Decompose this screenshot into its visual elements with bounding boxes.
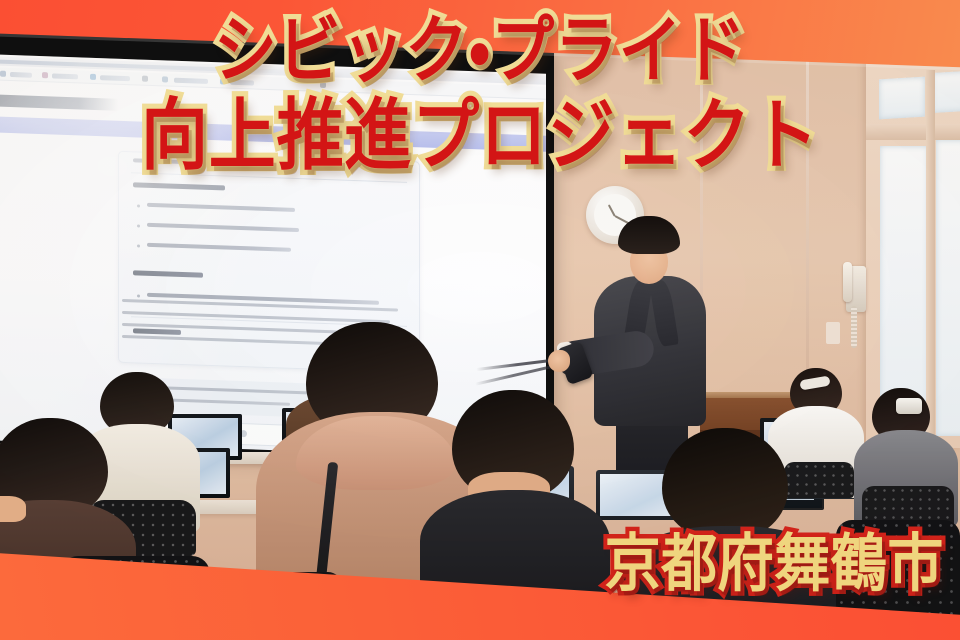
window-glass-panel — [936, 140, 960, 436]
wall-plate — [826, 322, 840, 344]
door-header — [866, 124, 960, 140]
telephone-handset — [843, 262, 852, 302]
list-bullet — [137, 294, 140, 297]
bookmark-item — [100, 75, 130, 81]
chair-back — [784, 462, 854, 498]
document-heading — [0, 94, 118, 111]
classroom-photo — [0, 0, 960, 640]
card-subheading — [133, 182, 225, 190]
card-text-line — [147, 223, 299, 232]
bookmark-item — [230, 80, 254, 86]
card-subheading — [133, 270, 203, 277]
list-bullet — [137, 204, 140, 207]
bookmark-favicon — [90, 74, 96, 80]
bookmark-favicon — [0, 71, 6, 77]
bookmark-item — [52, 73, 78, 79]
poster-canvas: シビック・プライド 向上推進プロジェクト 京都府舞鶴市 — [0, 0, 960, 640]
bookmark-item — [10, 72, 32, 78]
door-mullion — [926, 70, 935, 442]
bookmark-favicon — [142, 76, 148, 82]
bookmark-favicon — [320, 82, 326, 88]
list-bullet — [137, 244, 140, 247]
card-text-line — [147, 243, 291, 252]
list-bullet — [137, 224, 140, 227]
student-neck — [0, 496, 26, 522]
bookmark-favicon — [42, 72, 48, 78]
card-divider — [131, 172, 407, 183]
transom-window — [879, 77, 925, 120]
telephone-cord — [851, 306, 857, 348]
bookmark-favicon — [220, 78, 226, 84]
hair-clip — [896, 398, 922, 414]
transom-window — [932, 71, 960, 113]
student-head — [662, 428, 788, 540]
projected-browser-window — [0, 54, 546, 459]
bookmark-favicon — [162, 76, 168, 82]
card-text-line — [133, 158, 253, 166]
document-divider — [0, 116, 546, 151]
card-subheading — [133, 328, 181, 335]
presenter-hand — [548, 350, 570, 372]
card-text-line — [147, 203, 295, 212]
